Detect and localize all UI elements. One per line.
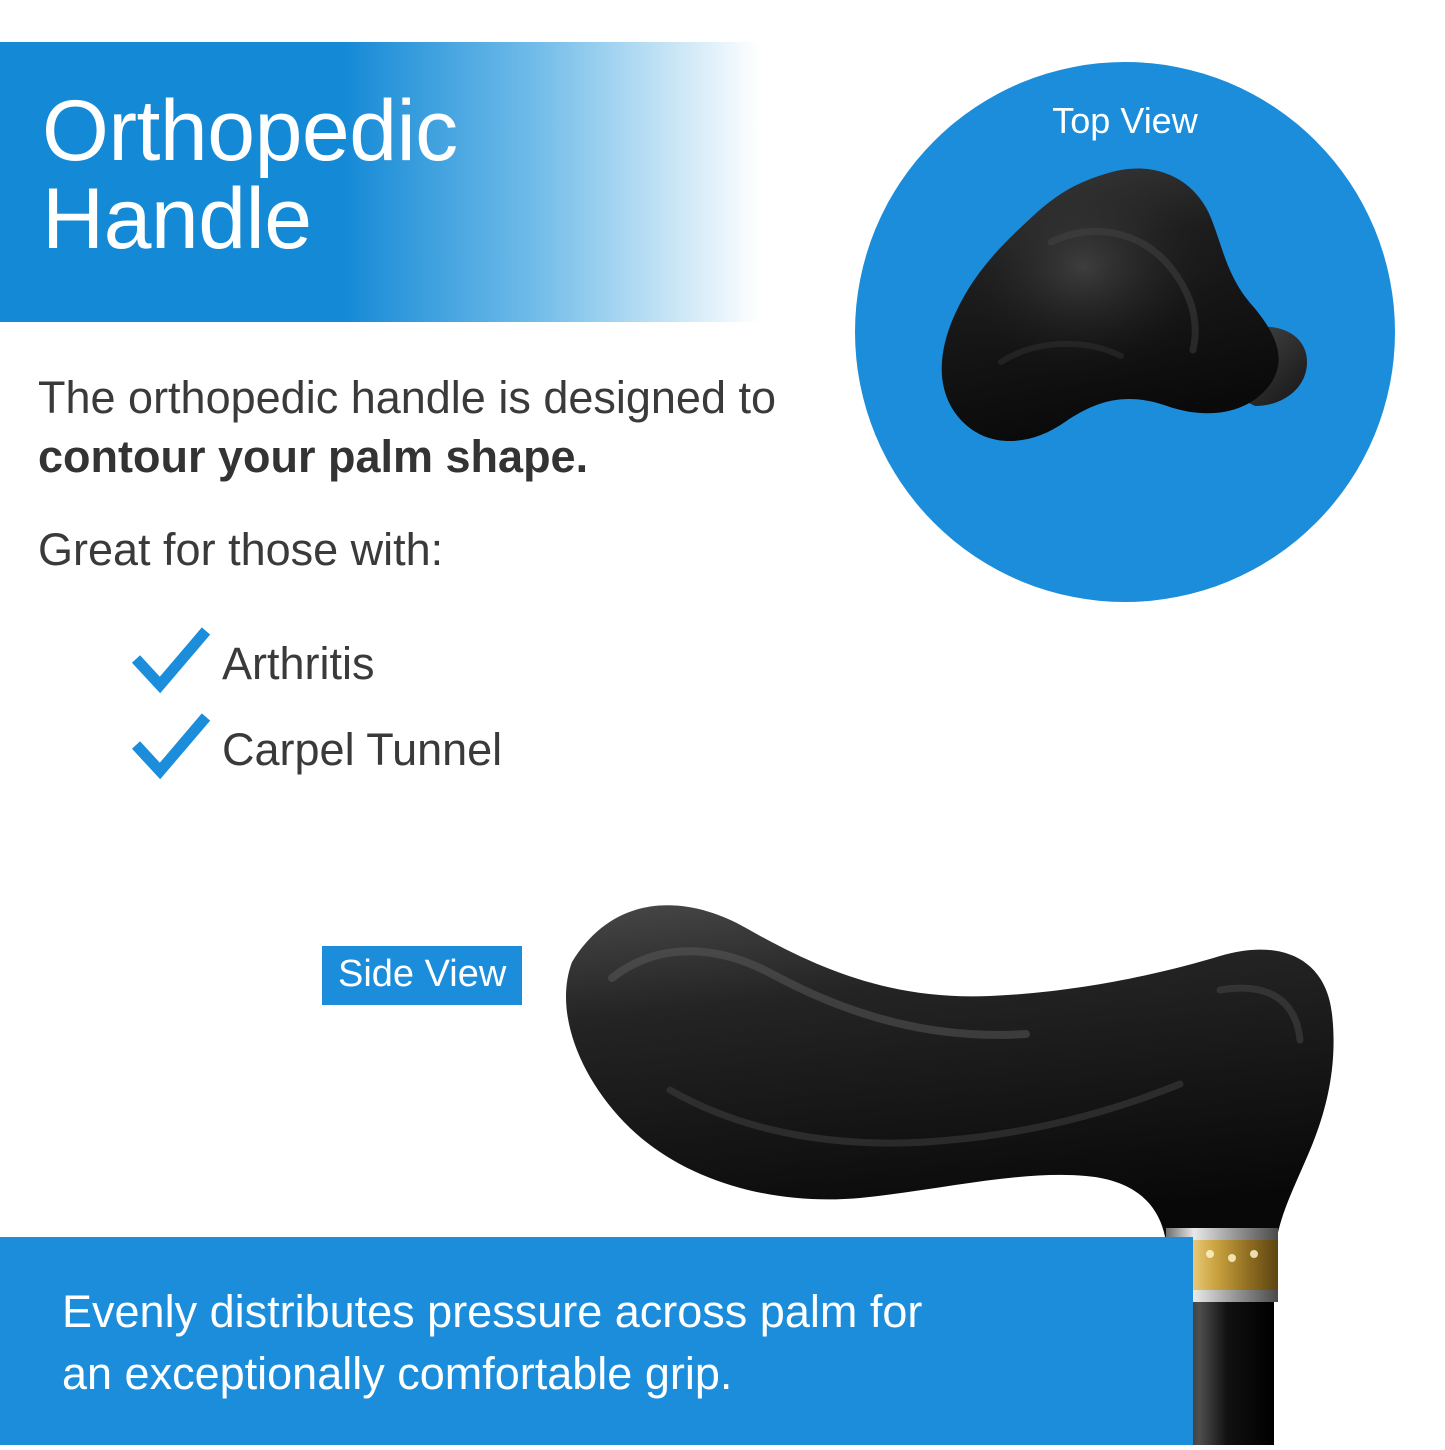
list-item: Carpel Tunnel — [130, 706, 750, 792]
intro-paragraph: The orthopedic handle is designed to con… — [38, 368, 818, 487]
benefits-checklist: Arthritis Carpel Tunnel — [130, 620, 750, 792]
list-item: Arthritis — [130, 620, 750, 706]
intro-lead-text: The orthopedic handle is designed to — [38, 372, 776, 423]
list-item-label: Carpel Tunnel — [212, 727, 502, 772]
bottom-banner-text: Evenly distributes pressure across palm … — [62, 1281, 1122, 1405]
check-icon — [130, 627, 212, 699]
side-view-label: Side View — [322, 946, 522, 1005]
list-item-label: Arthritis — [212, 641, 375, 686]
page-title: Orthopedic Handle — [42, 88, 742, 263]
intro-emphasis-text: contour your palm shape. — [38, 431, 588, 482]
top-view-handle-image — [855, 62, 1395, 602]
check-icon — [130, 713, 212, 785]
great-for-label: Great for those with: — [38, 524, 443, 576]
